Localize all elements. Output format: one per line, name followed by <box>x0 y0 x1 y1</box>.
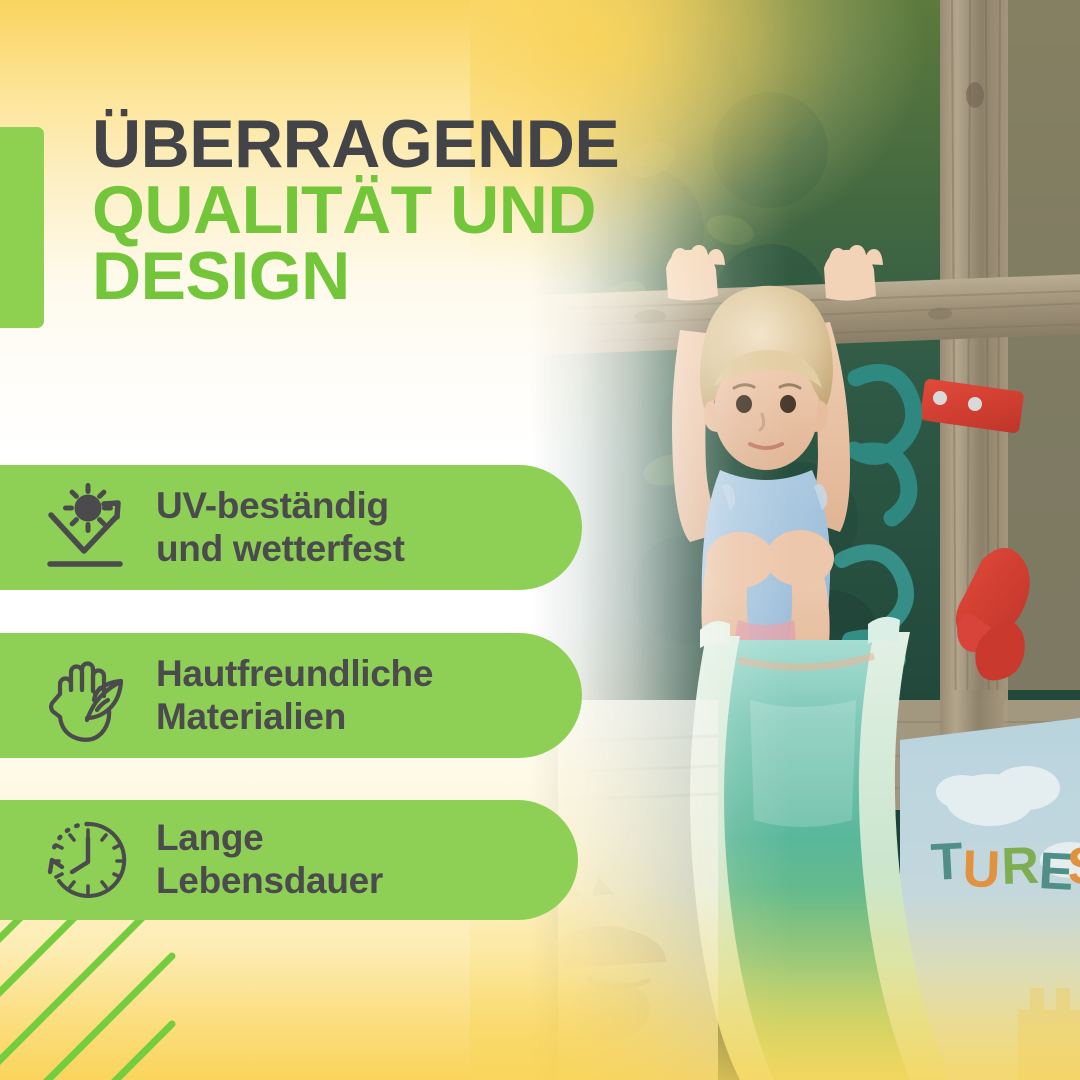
feature-pill-skin-friendly: Hautfreundliche Materialien <box>0 633 582 758</box>
hand-leaf-icon <box>38 650 138 742</box>
poster-root: T U R E S <box>0 0 1080 1080</box>
feature-label-long-lifespan: Lange Lebensdauer <box>156 817 383 903</box>
uv-sun-reflect-icon <box>38 482 138 574</box>
svg-text:T: T <box>930 832 965 892</box>
headline-line-3: DESIGN <box>92 244 772 310</box>
headline-line-2: QUALITÄT UND <box>92 178 772 244</box>
headline-line-1: ÜBERRAGENDE <box>92 112 772 178</box>
svg-text:S: S <box>1066 837 1080 896</box>
svg-text:R: R <box>1000 837 1040 896</box>
feature-pill-uv-resistant: UV-beständig und wetterfest <box>0 465 582 590</box>
feature-pill-long-lifespan: Lange Lebensdauer <box>0 800 578 920</box>
headline-accent-bar <box>0 127 44 328</box>
page-title: ÜBERRAGENDE QUALITÄT UND DESIGN <box>92 112 772 310</box>
svg-text:U: U <box>962 840 1002 899</box>
clock-arrow-icon <box>38 814 138 906</box>
feature-label-uv-resistant: UV-beständig und wetterfest <box>156 485 405 571</box>
feature-label-skin-friendly: Hautfreundliche Materialien <box>156 653 433 739</box>
